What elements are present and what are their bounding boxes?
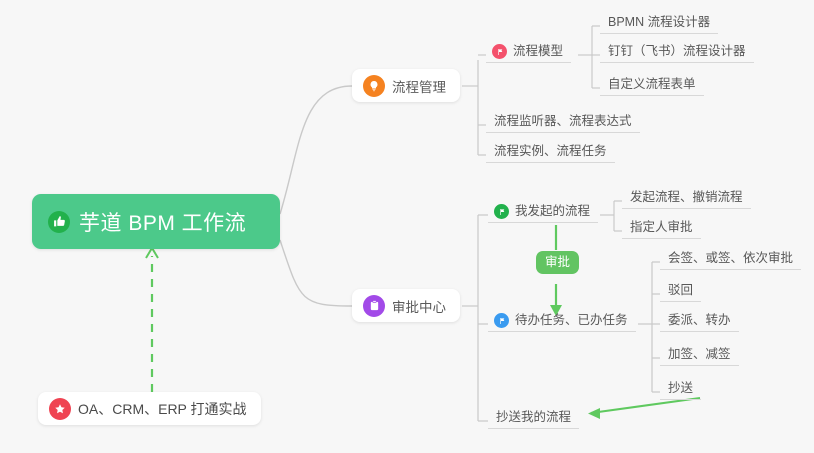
node-label: 指定人审批: [630, 216, 693, 235]
node-custom-form[interactable]: 自定义流程表单: [600, 69, 704, 96]
node-bpmn-designer[interactable]: BPMN 流程设计器: [600, 7, 718, 34]
node-label: 我发起的流程: [515, 200, 590, 219]
node-label: 待办任务、已办任务: [515, 309, 628, 328]
node-dingtalk-feishu-designer[interactable]: 钉钉（飞书）流程设计器: [600, 36, 754, 63]
node-label: 抄送我的流程: [496, 406, 571, 425]
node-my-initiated-process[interactable]: 我发起的流程: [488, 196, 598, 223]
node-label: 流程监听器、流程表达式: [494, 110, 632, 129]
flag-icon: [492, 44, 507, 59]
root-label: 芋道 BPM 工作流: [79, 207, 246, 237]
flag-icon: [494, 313, 509, 328]
thumbs-up-icon: [48, 211, 70, 233]
node-cc-to-me-process[interactable]: 抄送我的流程: [488, 402, 579, 429]
clipboard-icon: [363, 295, 385, 317]
node-delegate-transfer[interactable]: 委派、转办: [660, 305, 739, 332]
branch-label: 流程管理: [392, 76, 446, 96]
node-label: 抄送: [668, 377, 693, 396]
node-label: 流程实例、流程任务: [494, 140, 607, 159]
node-label: 自定义流程表单: [608, 73, 696, 92]
node-label: 会签、或签、依次审批: [668, 247, 793, 266]
node-start-cancel-process[interactable]: 发起流程、撤销流程: [622, 182, 751, 209]
node-label: 流程模型: [513, 40, 563, 59]
footer-node-oa-crm-erp[interactable]: OA、CRM、ERP 打通实战: [38, 392, 261, 425]
node-label: 加签、减签: [668, 343, 731, 362]
star-icon: [49, 398, 71, 420]
node-reject[interactable]: 驳回: [660, 275, 701, 302]
node-process-instance-task[interactable]: 流程实例、流程任务: [486, 136, 615, 163]
branch-process-management[interactable]: 流程管理: [352, 69, 460, 102]
node-countersign-orsign-sequential[interactable]: 会签、或签、依次审批: [660, 243, 801, 270]
badge-label: 审批: [545, 256, 570, 269]
node-process-listener-expression[interactable]: 流程监听器、流程表达式: [486, 106, 640, 133]
branch-approval-center[interactable]: 审批中心: [352, 289, 460, 322]
node-label: BPMN 流程设计器: [608, 11, 710, 30]
footer-node-label: OA、CRM、ERP 打通实战: [78, 399, 247, 419]
node-label: 委派、转办: [668, 309, 731, 328]
branch-label: 审批中心: [392, 296, 446, 316]
node-todo-done-tasks[interactable]: 待办任务、已办任务: [488, 305, 636, 332]
approval-badge: 审批: [536, 251, 579, 274]
node-label: 钉钉（飞书）流程设计器: [608, 40, 746, 59]
mindmap-canvas: 芋道 BPM 工作流 流程管理 流程模型 BPMN 流程设计器 钉钉（飞书）流程…: [0, 0, 814, 453]
node-process-model[interactable]: 流程模型: [486, 36, 571, 63]
node-label: 驳回: [668, 279, 693, 298]
node-cc[interactable]: 抄送: [660, 373, 701, 400]
node-label: 发起流程、撤销流程: [630, 186, 743, 205]
flag-icon: [494, 204, 509, 219]
lightbulb-icon: [363, 75, 385, 97]
node-assignee-approval[interactable]: 指定人审批: [622, 212, 701, 239]
node-add-remove-sign[interactable]: 加签、减签: [660, 339, 739, 366]
root-node[interactable]: 芋道 BPM 工作流: [32, 194, 280, 249]
